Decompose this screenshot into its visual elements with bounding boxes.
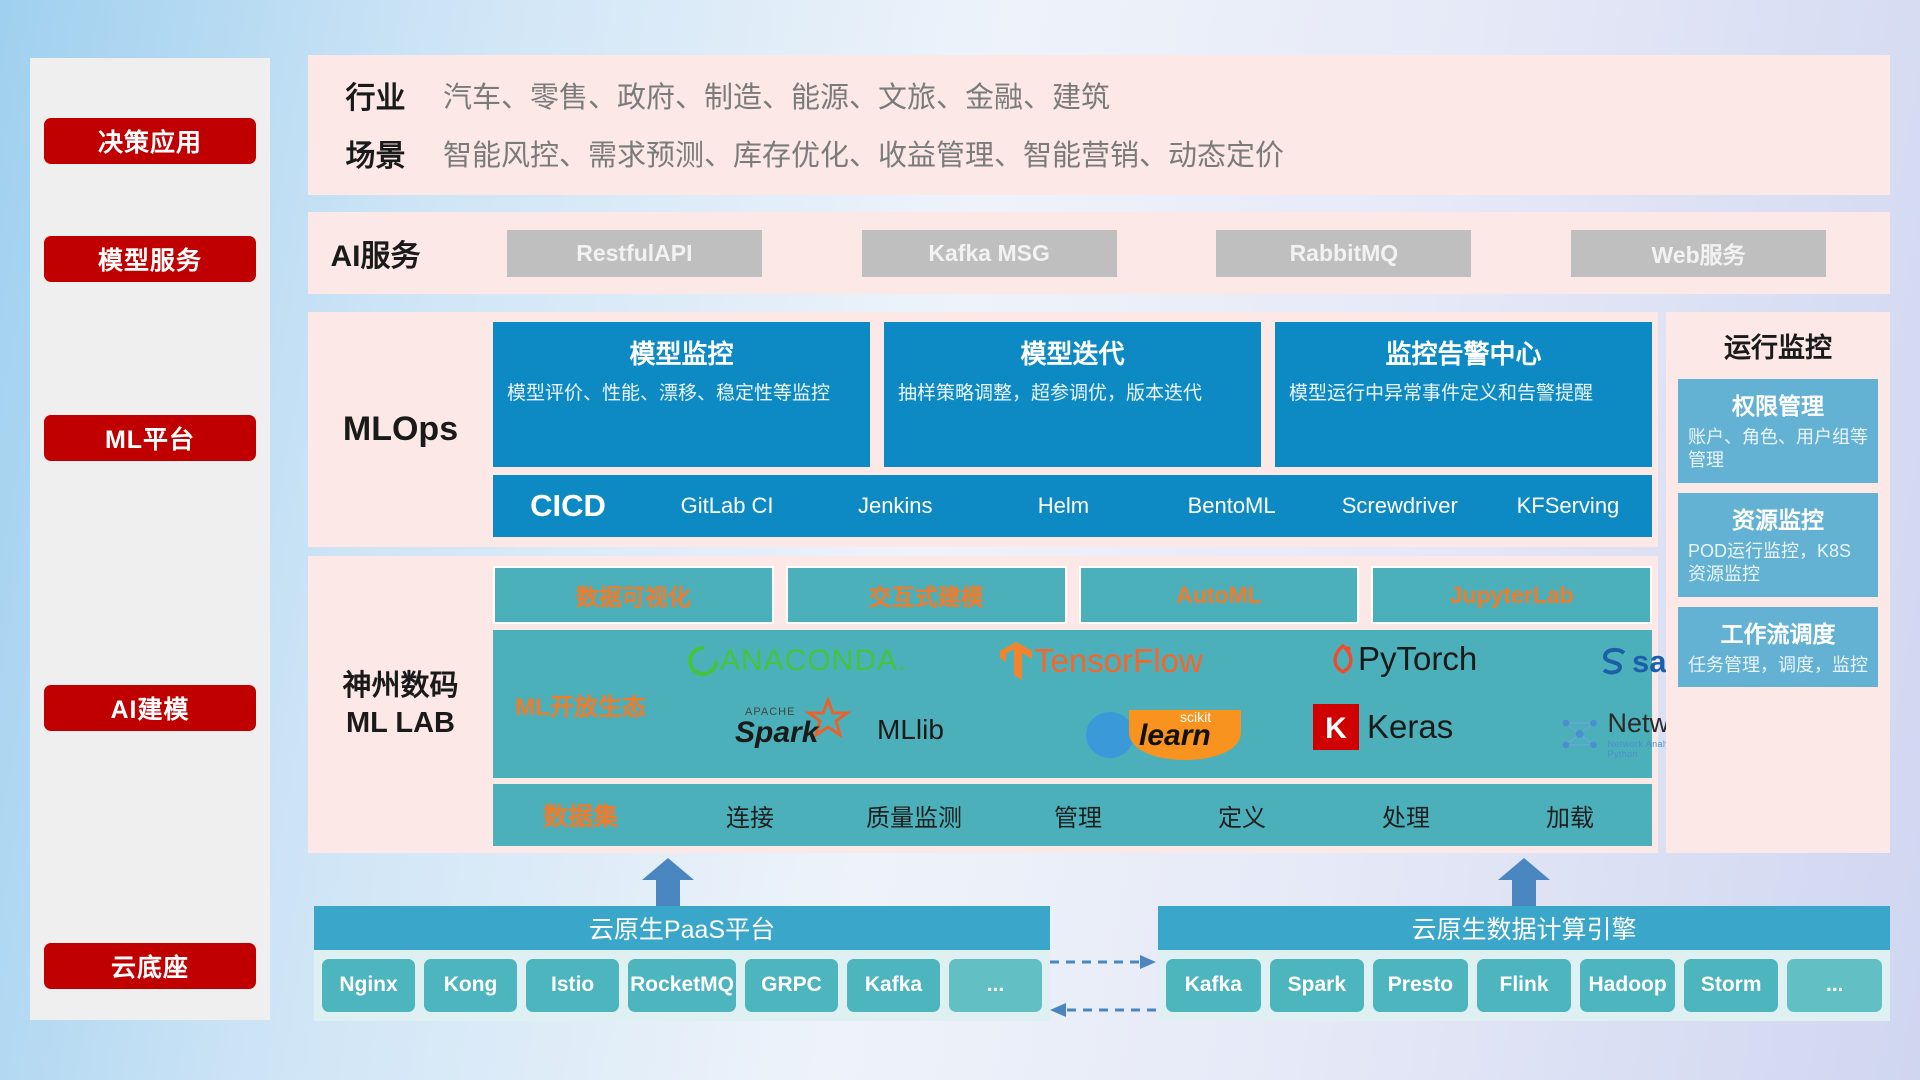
- engine-chip-flink[interactable]: Flink: [1477, 959, 1572, 1012]
- ml-ecosystem-logo-area: ANACONDA. TensorFlow PyTorch: [668, 630, 1652, 778]
- lab-tool-interactive-modeling[interactable]: 交互式建模: [786, 566, 1067, 624]
- keras-label: Keras: [1367, 708, 1453, 746]
- chip-label: Flink: [1500, 974, 1549, 996]
- tensorflow-label: TensorFlow: [1034, 642, 1203, 680]
- dataset-item-label: 处理: [1382, 805, 1430, 832]
- mllib-label: MLlib: [877, 714, 944, 746]
- cicd-label: KFServing: [1517, 493, 1620, 518]
- tensorflow-icon: [998, 640, 1034, 682]
- chip-label: Kafka: [865, 974, 922, 996]
- lab-tool-label: AutoML: [1176, 582, 1262, 609]
- runtime-monitor-title: 运行监控: [1666, 312, 1890, 369]
- dataset-item-label: 加载: [1546, 805, 1594, 832]
- dataset-row: 数据集 连接 质量监测 管理 定义 处理 加载: [493, 784, 1652, 846]
- ml-lab-label-line1: 神州数码: [342, 668, 458, 704]
- engine-chip-storm[interactable]: Storm: [1684, 959, 1779, 1012]
- tensorflow-logo: TensorFlow: [998, 640, 1203, 682]
- ai-button-label: RabbitMQ: [1290, 240, 1399, 267]
- learn-label: learn: [1139, 719, 1211, 753]
- rail-item-decision[interactable]: 决策应用: [44, 118, 256, 164]
- cicd-label: BentoML: [1188, 493, 1276, 518]
- monitor-card-permission[interactable]: 权限管理 账户、角色、用户组等管理: [1678, 379, 1878, 483]
- ai-button-label: Kafka MSG: [928, 240, 1049, 267]
- rail-label: 决策应用: [98, 123, 202, 159]
- cicd-item-helm[interactable]: Helm: [979, 494, 1147, 517]
- lab-tool-label: 交互式建模: [869, 578, 984, 612]
- chip-label: GRPC: [761, 974, 822, 996]
- spark-wordmark: APACHE Spark: [723, 704, 873, 756]
- ai-service-button-kafka-msg[interactable]: Kafka MSG: [862, 230, 1117, 277]
- scenario-key: 场景: [308, 131, 443, 175]
- rail-item-ai-modeling[interactable]: AI建模: [44, 685, 256, 731]
- paas-chip-istio[interactable]: Istio: [526, 959, 619, 1012]
- dataset-item-load[interactable]: 加载: [1488, 798, 1652, 833]
- data-engine-chip-group: Kafka Spark Presto Flink Hadoop Storm ..…: [1158, 950, 1890, 1021]
- card-title: 工作流调度: [1688, 615, 1868, 649]
- ai-service-label: AI服务: [308, 231, 443, 275]
- chip-label: RocketMQ: [630, 974, 734, 996]
- chip-label: Nginx: [339, 974, 397, 996]
- ai-service-button-restfulapi[interactable]: RestfulAPI: [507, 230, 762, 277]
- chip-label: Spark: [1288, 974, 1346, 996]
- pytorch-icon: [1328, 640, 1358, 678]
- chip-label: Kong: [444, 974, 498, 996]
- paas-chip-more[interactable]: ...: [949, 959, 1042, 1012]
- engine-chip-kafka[interactable]: Kafka: [1166, 959, 1261, 1012]
- dataset-item-process[interactable]: 处理: [1324, 798, 1488, 833]
- engine-chip-hadoop[interactable]: Hadoop: [1580, 959, 1675, 1012]
- rail-label: 模型服务: [98, 241, 202, 277]
- mlops-panel: MLOps 模型监控 模型评价、性能、漂移、稳定性等监控 模型迭代 抽样策略调整…: [308, 312, 1658, 547]
- card-title: 模型迭代: [898, 334, 1247, 371]
- dataset-label: 数据集: [493, 797, 668, 833]
- rail-label: 云底座: [111, 948, 189, 984]
- dataset-item-label: 连接: [726, 805, 774, 832]
- paas-chip-rocketmq[interactable]: RocketMQ: [628, 959, 736, 1012]
- paas-chip-grpc[interactable]: GRPC: [745, 959, 838, 1012]
- keras-icon: K: [1313, 704, 1359, 750]
- dataset-item-label: 质量监测: [866, 805, 962, 832]
- engine-chip-more[interactable]: ...: [1787, 959, 1882, 1012]
- paas-platform-title: 云原生PaaS平台: [314, 906, 1050, 950]
- scenario-row: 场景 智能风控、需求预测、库存优化、收益管理、智能营销、动态定价: [308, 131, 1890, 175]
- paas-chip-group: Nginx Kong Istio RocketMQ GRPC Kafka ...: [314, 950, 1050, 1021]
- data-engine-block: 云原生数据计算引擎 Kafka Spark Presto Flink Hadoo…: [1158, 906, 1890, 1021]
- card-title: 资源监控: [1688, 501, 1868, 535]
- arrow-up-paas-icon: [640, 858, 696, 906]
- ai-button-label: Web服务: [1652, 236, 1746, 270]
- dataset-item-label: 管理: [1054, 805, 1102, 832]
- dataset-item-quality[interactable]: 质量监测: [832, 798, 996, 833]
- lab-tool-jupyterlab[interactable]: JupyterLab: [1371, 566, 1652, 624]
- cicd-item-kfserving[interactable]: KFServing: [1484, 494, 1652, 517]
- rail-item-ml-platform[interactable]: ML平台: [44, 415, 256, 461]
- anaconda-icon: [686, 644, 720, 678]
- scikit-orange-blob: scikit learn: [1125, 706, 1245, 762]
- ml-lab-panel: 神州数码 ML LAB 数据可视化 交互式建模 AutoML JupyterLa…: [308, 556, 1658, 853]
- chip-label: Storm: [1701, 974, 1762, 996]
- monitor-card-workflow[interactable]: 工作流调度 任务管理，调度，监控: [1678, 607, 1878, 687]
- layer-rail: 决策应用 模型服务 ML平台 AI建模 云底座: [30, 58, 270, 1020]
- card-title: 模型监控: [507, 334, 856, 371]
- cicd-item-gitlab-ci[interactable]: GitLab CI: [643, 494, 811, 517]
- ai-button-label: RestfulAPI: [576, 240, 692, 267]
- card-desc: 任务管理，调度，监控: [1688, 654, 1868, 677]
- industry-row: 行业 汽车、零售、政府、制造、能源、文旅、金融、建筑: [308, 73, 1890, 117]
- keras-logo: K Keras: [1313, 704, 1453, 750]
- card-desc: POD运行监控，K8S资源监控: [1688, 540, 1868, 587]
- lab-tool-label: JupyterLab: [1450, 582, 1574, 609]
- card-title: 权限管理: [1688, 387, 1868, 421]
- chip-label: ...: [987, 974, 1005, 996]
- monitor-card-resource[interactable]: 资源监控 POD运行监控，K8S资源监控: [1678, 493, 1878, 597]
- chip-label: ...: [1826, 974, 1844, 996]
- anaconda-logo: ANACONDA.: [686, 644, 907, 678]
- ai-service-button-group: RestfulAPI Kafka MSG RabbitMQ Web服务: [443, 230, 1890, 277]
- lab-tool-automl[interactable]: AutoML: [1079, 566, 1360, 624]
- networkx-icon: [1558, 713, 1601, 755]
- scenario-value: 智能风控、需求预测、库存优化、收益管理、智能营销、动态定价: [443, 132, 1284, 174]
- cicd-label: Jenkins: [858, 493, 933, 518]
- lab-tool-data-visualization[interactable]: 数据可视化: [493, 566, 774, 624]
- rail-label: ML平台: [105, 420, 195, 456]
- cicd-label: Helm: [1038, 493, 1089, 518]
- card-desc: 模型运行中异常事件定义和告警提醒: [1289, 381, 1638, 407]
- rail-label: AI建模: [110, 690, 189, 726]
- lab-tool-label: 数据可视化: [576, 578, 691, 612]
- scikit-learn-logo: scikit learn: [1083, 706, 1245, 762]
- mlops-card-group: 模型监控 模型评价、性能、漂移、稳定性等监控 模型迭代 抽样策略调整，超参调优，…: [493, 322, 1652, 467]
- industry-scenario-panel: 行业 汽车、零售、政府、制造、能源、文旅、金融、建筑 场景 智能风控、需求预测、…: [308, 55, 1890, 195]
- ai-service-button-rabbitmq[interactable]: RabbitMQ: [1216, 230, 1471, 277]
- data-engine-title: 云原生数据计算引擎: [1158, 906, 1890, 950]
- bidirectional-dashed-connector-icon: [1048, 952, 1158, 1022]
- cicd-bar: CICD GitLab CI Jenkins Helm BentoML Scre…: [493, 475, 1652, 537]
- industry-key: 行业: [308, 73, 443, 117]
- chip-label: Kafka: [1185, 974, 1242, 996]
- pytorch-label: PyTorch: [1358, 640, 1477, 678]
- paas-chip-kong[interactable]: Kong: [424, 959, 517, 1012]
- card-desc: 账户、角色、用户组等管理: [1688, 426, 1868, 473]
- spark-label: Spark: [735, 716, 818, 750]
- industry-value: 汽车、零售、政府、制造、能源、文旅、金融、建筑: [443, 74, 1110, 116]
- sas-icon: [1598, 646, 1632, 678]
- cicd-item-screwdriver[interactable]: Screwdriver: [1316, 494, 1484, 517]
- rail-item-cloud-base[interactable]: 云底座: [44, 943, 256, 989]
- dataset-item-define[interactable]: 定义: [1160, 798, 1324, 833]
- chip-label: Hadoop: [1589, 974, 1667, 996]
- mlops-card-model-iteration[interactable]: 模型迭代 抽样策略调整，超参调优，版本迭代: [884, 322, 1261, 467]
- ml-ecosystem-label: ML开放生态: [493, 687, 668, 722]
- anaconda-label: ANACONDA.: [720, 644, 907, 678]
- ml-lab-tool-group: 数据可视化 交互式建模 AutoML JupyterLab: [493, 566, 1652, 624]
- cicd-item-bentoml[interactable]: BentoML: [1148, 494, 1316, 517]
- chip-label: Presto: [1388, 974, 1453, 996]
- ml-lab-label: 神州数码 ML LAB: [308, 556, 493, 853]
- ai-service-panel: AI服务 RestfulAPI Kafka MSG RabbitMQ Web服务: [308, 212, 1890, 294]
- cicd-label: GitLab CI: [681, 493, 774, 518]
- ml-ecosystem-row: ML开放生态 ANACONDA. TensorFlow: [493, 630, 1652, 778]
- svg-text:K: K: [1325, 712, 1347, 745]
- card-desc: 模型评价、性能、漂移、稳定性等监控: [507, 381, 856, 407]
- rail-item-model-service[interactable]: 模型服务: [44, 236, 256, 282]
- mlops-label: MLOps: [308, 312, 493, 547]
- cicd-title: CICD: [493, 488, 643, 524]
- cicd-item-jenkins[interactable]: Jenkins: [811, 494, 979, 517]
- paas-chip-nginx[interactable]: Nginx: [322, 959, 415, 1012]
- runtime-monitor-panel: 运行监控 权限管理 账户、角色、用户组等管理 资源监控 POD运行监控，K8S资…: [1666, 312, 1890, 853]
- paas-chip-kafka[interactable]: Kafka: [847, 959, 940, 1012]
- ml-lab-label-line2: ML LAB: [346, 705, 455, 741]
- dataset-item-connect[interactable]: 连接: [668, 798, 832, 833]
- chip-label: Istio: [551, 974, 594, 996]
- engine-chip-presto[interactable]: Presto: [1373, 959, 1468, 1012]
- spark-mllib-logo: APACHE Spark MLlib: [723, 704, 944, 756]
- paas-platform-block: 云原生PaaS平台 Nginx Kong Istio RocketMQ GRPC…: [314, 906, 1050, 1021]
- pytorch-logo: PyTorch: [1328, 640, 1477, 678]
- card-title: 监控告警中心: [1289, 334, 1638, 371]
- engine-chip-spark[interactable]: Spark: [1270, 959, 1365, 1012]
- dataset-item-label: 定义: [1218, 805, 1266, 832]
- mlops-card-model-monitoring[interactable]: 模型监控 模型评价、性能、漂移、稳定性等监控: [493, 322, 870, 467]
- card-desc: 抽样策略调整，超参调优，版本迭代: [898, 381, 1247, 407]
- dataset-item-manage[interactable]: 管理: [996, 798, 1160, 833]
- mlops-card-alert-center[interactable]: 监控告警中心 模型运行中异常事件定义和告警提醒: [1275, 322, 1652, 467]
- arrow-up-data-engine-icon: [1496, 858, 1552, 906]
- cicd-label: Screwdriver: [1342, 493, 1458, 518]
- ai-service-button-web[interactable]: Web服务: [1571, 230, 1826, 277]
